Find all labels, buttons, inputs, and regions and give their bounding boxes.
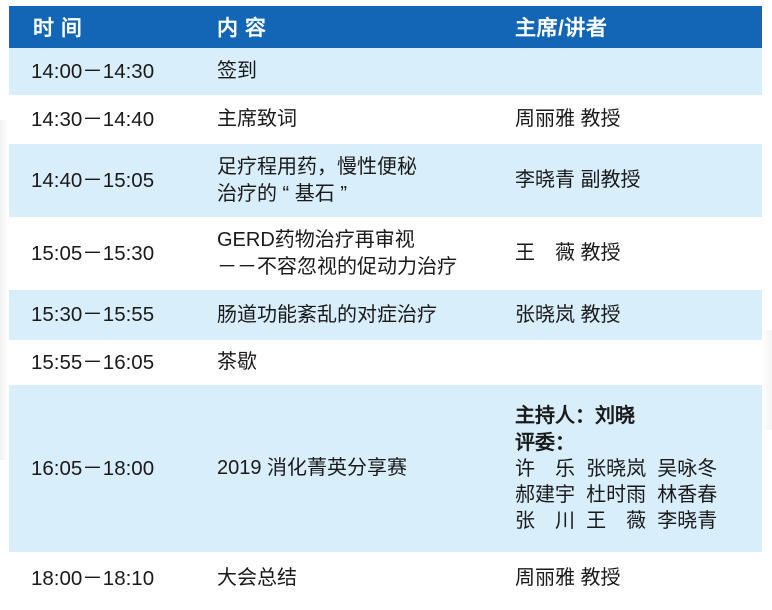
cell-speaker: 周丽雅 教授 — [500, 552, 762, 605]
speaker-line: 周丽雅 教授 — [515, 565, 758, 592]
cell-speaker: 王 薇 教授 — [500, 217, 762, 290]
column-header-time: 时 间 — [9, 6, 201, 48]
cell-content: 茶歇 — [201, 340, 500, 385]
content-line: 治疗的 “ 基石 ” — [217, 181, 494, 208]
cell-speaker — [500, 48, 762, 95]
content-line: GERD药物治疗再审视 — [217, 227, 494, 254]
content-line: 茶歇 — [217, 349, 494, 376]
cell-speaker: 周丽雅 教授 — [500, 95, 762, 144]
table-row: 14:30－14:40 主席致词 周丽雅 教授 — [9, 95, 762, 144]
agenda-table-header: 时 间 内 容 主席/讲者 — [9, 6, 762, 48]
page-edge-shadow-right — [762, 330, 772, 430]
cell-time: 14:00－14:30 — [9, 48, 201, 95]
cell-content: 肠道功能紊乱的对症治疗 — [201, 290, 500, 340]
table-row: 14:00－14:30 签到 — [9, 48, 762, 95]
cell-content: 签到 — [201, 48, 500, 95]
agenda-page: 时 间 内 容 主席/讲者 14:00－14:30 签到 14:30－14:40… — [0, 0, 772, 610]
cell-time: 15:05－15:30 — [9, 217, 201, 290]
jury-host-label: 主持人：刘晓 — [515, 403, 758, 429]
cell-speaker: 李晓青 副教授 — [500, 144, 762, 217]
column-header-content: 内 容 — [201, 6, 500, 48]
content-line: 大会总结 — [217, 565, 494, 592]
cell-time: 14:30－14:40 — [9, 95, 201, 144]
cell-speaker-jury: 主持人：刘晓 评委： 许 乐 张晓岚 吴咏冬 郝建宇 杜时雨 林香春 张 川 王… — [500, 385, 762, 552]
cell-time: 16:05－18:00 — [9, 385, 201, 552]
content-line: 足疗程用药，慢性便秘 — [217, 154, 494, 181]
table-row: 16:05－18:00 2019 消化菁英分享赛 主持人：刘晓 评委： 许 乐 … — [9, 385, 762, 552]
content-line: 签到 — [217, 58, 494, 85]
cell-time: 14:40－15:05 — [9, 144, 201, 217]
table-row: 15:30－15:55 肠道功能紊乱的对症治疗 张晓岚 教授 — [9, 290, 762, 340]
table-row: 18:00－18:10 大会总结 周丽雅 教授 — [9, 552, 762, 605]
page-edge-shadow-left — [0, 120, 9, 460]
cell-content: 主席致词 — [201, 95, 500, 144]
cell-time: 15:55－16:05 — [9, 340, 201, 385]
cell-content: 足疗程用药，慢性便秘 治疗的 “ 基石 ” — [201, 144, 500, 217]
speaker-line: 王 薇 教授 — [515, 240, 758, 267]
table-row: 15:55－16:05 茶歇 — [9, 340, 762, 385]
column-header-speaker: 主席/讲者 — [500, 6, 762, 48]
header-row: 时 间 内 容 主席/讲者 — [9, 6, 762, 48]
table-row: 15:05－15:30 GERD药物治疗再审视 －－不容忽视的促动力治疗 王 薇… — [9, 217, 762, 290]
content-line: 2019 消化菁英分享赛 — [217, 455, 494, 482]
speaker-line: 张晓岚 教授 — [515, 302, 758, 329]
table-row: 14:40－15:05 足疗程用药，慢性便秘 治疗的 “ 基石 ” 李晓青 副教… — [9, 144, 762, 217]
jury-names-line: 张 川 王 薇 李晓青 — [515, 508, 758, 534]
cell-speaker: 张晓岚 教授 — [500, 290, 762, 340]
content-line: －－不容忽视的促动力治疗 — [217, 254, 494, 281]
cell-speaker — [500, 340, 762, 385]
cell-time: 18:00－18:10 — [9, 552, 201, 605]
content-line: 主席致词 — [217, 106, 494, 133]
agenda-table-body: 14:00－14:30 签到 14:30－14:40 主席致词 周丽雅 教授 1… — [9, 48, 762, 605]
jury-section-label: 评委： — [515, 430, 758, 456]
agenda-table: 时 间 内 容 主席/讲者 14:00－14:30 签到 14:30－14:40… — [9, 6, 762, 605]
speaker-line: 周丽雅 教授 — [515, 106, 758, 133]
cell-content: 2019 消化菁英分享赛 — [201, 385, 500, 552]
cell-content: 大会总结 — [201, 552, 500, 605]
cell-time: 15:30－15:55 — [9, 290, 201, 340]
cell-content: GERD药物治疗再审视 －－不容忽视的促动力治疗 — [201, 217, 500, 290]
content-line: 肠道功能紊乱的对症治疗 — [217, 302, 494, 329]
jury-names-line: 许 乐 张晓岚 吴咏冬 — [515, 456, 758, 482]
jury-names-line: 郝建宇 杜时雨 林香春 — [515, 482, 758, 508]
speaker-line: 李晓青 副教授 — [515, 167, 758, 194]
